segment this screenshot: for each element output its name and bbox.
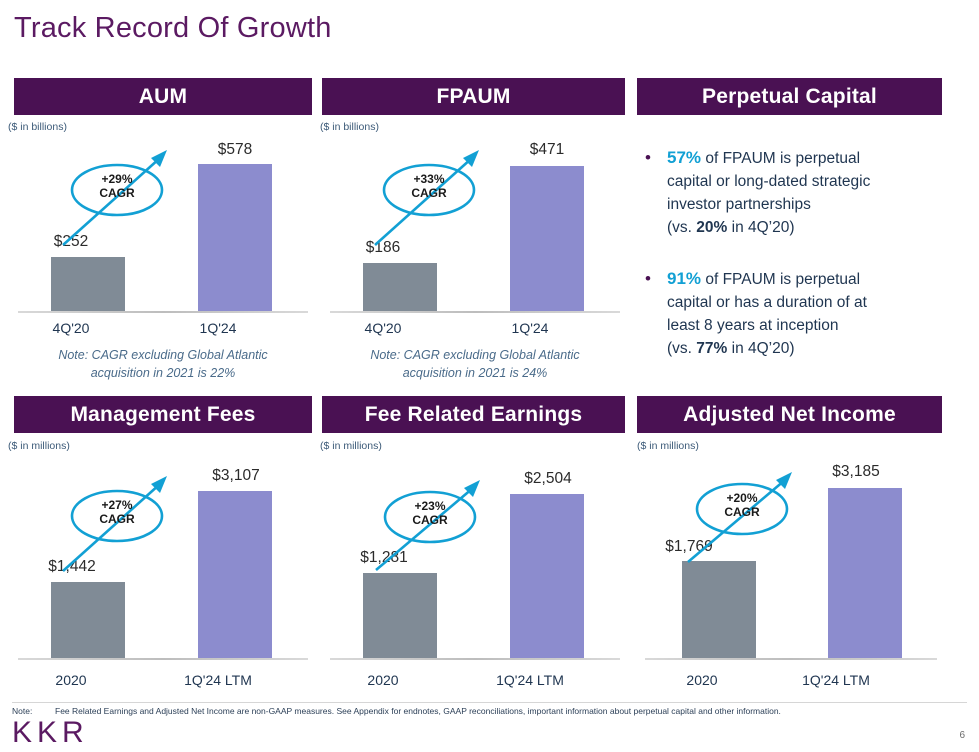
bullet-line1-1: of FPAUM is perpetual	[701, 150, 860, 167]
cat-label-fpaum-4q20: 4Q'20	[343, 320, 423, 336]
axis-line-fpaum	[330, 311, 620, 313]
perpetual-capital-bullets: • 57% of FPAUM is perpetual capital or l…	[645, 145, 945, 387]
bar-value-fpaum-4q20: $186	[343, 239, 423, 257]
bar-value-fee-related-earnings-2020: $1,281	[338, 549, 430, 567]
panel-header-management-fees: Management Fees	[14, 396, 312, 433]
bar-fpaum-1q24	[510, 166, 584, 311]
bullet-item-2: • 91% of FPAUM is perpetual capital or h…	[645, 266, 945, 361]
axis-line-adjusted-net-income	[645, 658, 937, 660]
axis-line-aum	[18, 311, 308, 313]
bar-adjusted-net-income-2020	[682, 561, 756, 658]
bar-value-aum-1q24: $578	[195, 141, 275, 159]
units-caption-aum: ($ in billions)	[8, 121, 67, 133]
cagr-value-aum: +29%	[101, 172, 132, 186]
cat-label-fee-related-earnings-2020: 2020	[343, 672, 423, 688]
bar-adjusted-net-income-1q24ltm	[828, 488, 902, 658]
units-caption-adjusted-net-income: ($ in millions)	[637, 440, 699, 452]
panel-header-fpaum-label: FPAUM	[436, 85, 510, 109]
panel-header-adjusted-net-income: Adjusted Net Income	[637, 396, 942, 433]
units-caption-fpaum: ($ in billions)	[320, 121, 379, 133]
chart-note-aum: Note: CAGR excluding Global Atlantic acq…	[18, 346, 308, 382]
axis-line-fee-related-earnings	[330, 658, 620, 660]
footer-note-label: Note:	[12, 706, 32, 716]
bar-value-adjusted-net-income-1q24ltm: $3,185	[810, 463, 902, 481]
panel-header-aum: AUM	[14, 78, 312, 115]
cat-label-adjusted-net-income-1q24ltm: 1Q'24 LTM	[788, 672, 884, 688]
cat-label-aum-4q20: 4Q'20	[31, 320, 111, 336]
cagr-value-adjusted-net-income: +20%	[726, 491, 757, 505]
bar-value-adjusted-net-income-2020: $1,769	[643, 538, 735, 556]
cat-label-management-fees-1q24ltm: 1Q'24 LTM	[170, 672, 266, 688]
axis-line-management-fees	[18, 658, 308, 660]
bullet-marker-1: •	[645, 145, 667, 240]
bar-fpaum-4q20	[363, 263, 437, 311]
slide-root: Track Record Of Growth AUM FPAUM Perpetu…	[0, 0, 979, 752]
panel-header-fee-related-earnings: Fee Related Earnings	[322, 396, 625, 433]
bullet-line1-2: of FPAUM is perpetual	[701, 271, 860, 288]
page-number: 6	[959, 730, 965, 741]
bar-fee-related-earnings-1q24ltm	[510, 494, 584, 658]
chart-adjusted-net-income	[645, 480, 937, 660]
panel-header-adjusted-net-income-label: Adjusted Net Income	[683, 403, 896, 427]
panel-header-perpetual-capital-label: Perpetual Capital	[702, 85, 877, 109]
bullet-line3-1: investor partnerships	[667, 196, 811, 213]
panel-header-management-fees-label: Management Fees	[70, 403, 255, 427]
cat-label-fee-related-earnings-1q24ltm: 1Q'24 LTM	[482, 672, 578, 688]
chart-fpaum	[330, 160, 620, 313]
bullet-marker-2: •	[645, 266, 667, 361]
cat-label-adjusted-net-income-2020: 2020	[662, 672, 742, 688]
footer-note-text: Fee Related Earnings and Adjusted Net In…	[55, 706, 781, 716]
cagr-sub-aum: CAGR	[99, 186, 134, 200]
chart-note-fpaum-line1: Note: CAGR excluding Global Atlantic	[370, 348, 579, 362]
bullet-line4-prefix-2: (vs.	[667, 340, 696, 357]
bar-value-fee-related-earnings-1q24ltm: $2,504	[502, 470, 594, 488]
cagr-value-fpaum: +33%	[413, 172, 444, 186]
cagr-sub-management-fees: CAGR	[99, 512, 134, 526]
cagr-value-fee-related-earnings: +23%	[414, 499, 445, 513]
panel-header-perpetual-capital: Perpetual Capital	[637, 78, 942, 115]
bar-value-management-fees-2020: $1,442	[26, 558, 118, 576]
footer-divider	[12, 702, 967, 703]
bar-management-fees-1q24ltm	[198, 491, 272, 658]
bullet-highlight-1: 57%	[667, 148, 701, 167]
cagr-sub-fee-related-earnings: CAGR	[412, 513, 447, 527]
chart-note-fpaum-line2: acquisition in 2021 is 24%	[403, 366, 548, 380]
bullet-item-1: • 57% of FPAUM is perpetual capital or l…	[645, 145, 945, 240]
cagr-text-fpaum: +33% CAGR	[399, 172, 459, 200]
bullet-line4-suffix-2: in 4Q’20)	[727, 340, 794, 357]
bullet-text-1: 57% of FPAUM is perpetual capital or lon…	[667, 145, 870, 240]
page-title: Track Record Of Growth	[14, 12, 332, 45]
chart-fee-related-earnings	[330, 480, 620, 660]
bullet-line3-2: least 8 years at inception	[667, 317, 838, 334]
bar-management-fees-2020	[51, 582, 125, 658]
bullet-line2-1: capital or long-dated strategic	[667, 173, 870, 190]
bar-value-aum-4q20: $252	[31, 233, 111, 251]
chart-note-aum-line1: Note: CAGR excluding Global Atlantic	[58, 348, 267, 362]
bullet-line4-suffix-1: in 4Q’20)	[727, 219, 794, 236]
cat-label-fpaum-1q24: 1Q'24	[490, 320, 570, 336]
cat-label-aum-1q24: 1Q'24	[178, 320, 258, 336]
cagr-text-fee-related-earnings: +23% CAGR	[400, 499, 460, 527]
cagr-value-management-fees: +27%	[101, 498, 132, 512]
units-caption-management-fees: ($ in millions)	[8, 440, 70, 452]
cagr-text-management-fees: +27% CAGR	[87, 498, 147, 526]
cagr-sub-adjusted-net-income: CAGR	[724, 505, 759, 519]
bullet-line4-bold-2: 77%	[696, 340, 727, 357]
bar-aum-1q24	[198, 164, 272, 311]
bullet-highlight-2: 91%	[667, 269, 701, 288]
kkr-logo: KKR	[12, 716, 89, 750]
chart-note-aum-line2: acquisition in 2021 is 22%	[91, 366, 236, 380]
bar-value-management-fees-1q24ltm: $3,107	[190, 467, 282, 485]
bullet-text-2: 91% of FPAUM is perpetual capital or has…	[667, 266, 867, 361]
panel-header-aum-label: AUM	[139, 85, 187, 109]
bullet-line2-2: capital or has a duration of at	[667, 294, 867, 311]
bullet-line4-prefix-1: (vs.	[667, 219, 696, 236]
chart-note-fpaum: Note: CAGR excluding Global Atlantic acq…	[330, 346, 620, 382]
bullet-line4-bold-1: 20%	[696, 219, 727, 236]
bar-fee-related-earnings-2020	[363, 573, 437, 658]
panel-header-fpaum: FPAUM	[322, 78, 625, 115]
cagr-sub-fpaum: CAGR	[411, 186, 446, 200]
bar-aum-4q20	[51, 257, 125, 311]
cat-label-management-fees-2020: 2020	[31, 672, 111, 688]
cagr-text-aum: +29% CAGR	[87, 172, 147, 200]
units-caption-fee-related-earnings: ($ in millions)	[320, 440, 382, 452]
cagr-text-adjusted-net-income: +20% CAGR	[712, 491, 772, 519]
bar-value-fpaum-1q24: $471	[507, 141, 587, 159]
panel-header-fee-related-earnings-label: Fee Related Earnings	[365, 403, 583, 427]
